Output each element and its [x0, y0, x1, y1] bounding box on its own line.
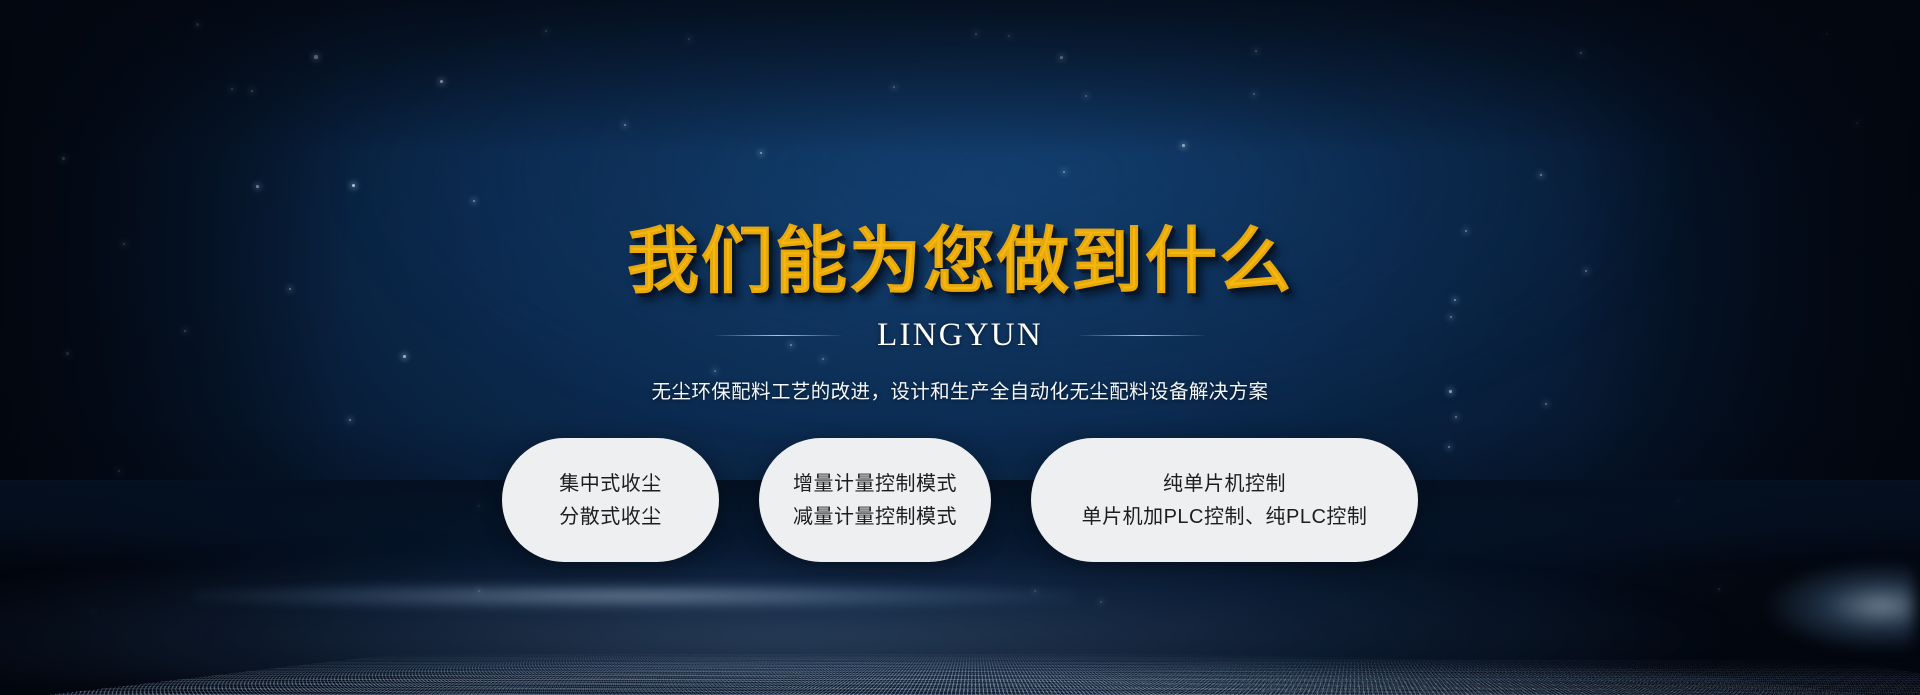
pill-line: 集中式收尘 — [559, 474, 662, 494]
feature-pill-dust-collection[interactable]: 集中式收尘 分散式收尘 — [502, 438, 719, 562]
banner-content: 我们能为您做到什么 LINGYUN 无尘环保配料工艺的改进，设计和生产全自动化无… — [0, 0, 1920, 562]
tagline: 无尘环保配料工艺的改进，设计和生产全自动化无尘配料设备解决方案 — [0, 379, 1920, 406]
pill-line: 减量计量控制模式 — [793, 507, 957, 527]
pill-line: 单片机加PLC控制、纯PLC控制 — [1082, 507, 1368, 527]
pill-line: 增量计量控制模式 — [793, 474, 957, 494]
hero-banner: 我们能为您做到什么 LINGYUN 无尘环保配料工艺的改进，设计和生产全自动化无… — [0, 0, 1920, 695]
decorative-rule-left — [715, 335, 841, 336]
edge-flare — [1764, 561, 1914, 651]
brand-name: LINGYUN — [877, 319, 1043, 352]
feature-pill-control-system[interactable]: 纯单片机控制 单片机加PLC控制、纯PLC控制 — [1031, 438, 1418, 562]
feature-pill-group: 集中式收尘 分散式收尘 增量计量控制模式 减量计量控制模式 纯单片机控制 单片机… — [0, 438, 1920, 562]
decorative-rule-right — [1079, 335, 1205, 336]
page-title: 我们能为您做到什么 — [0, 0, 1920, 297]
mesh-highlight-ridge — [192, 583, 1075, 609]
feature-pill-metering-mode[interactable]: 增量计量控制模式 减量计量控制模式 — [759, 438, 991, 562]
pill-line: 分散式收尘 — [559, 507, 662, 527]
pill-line: 纯单片机控制 — [1163, 474, 1286, 494]
brand-row: LINGYUN — [0, 319, 1920, 352]
